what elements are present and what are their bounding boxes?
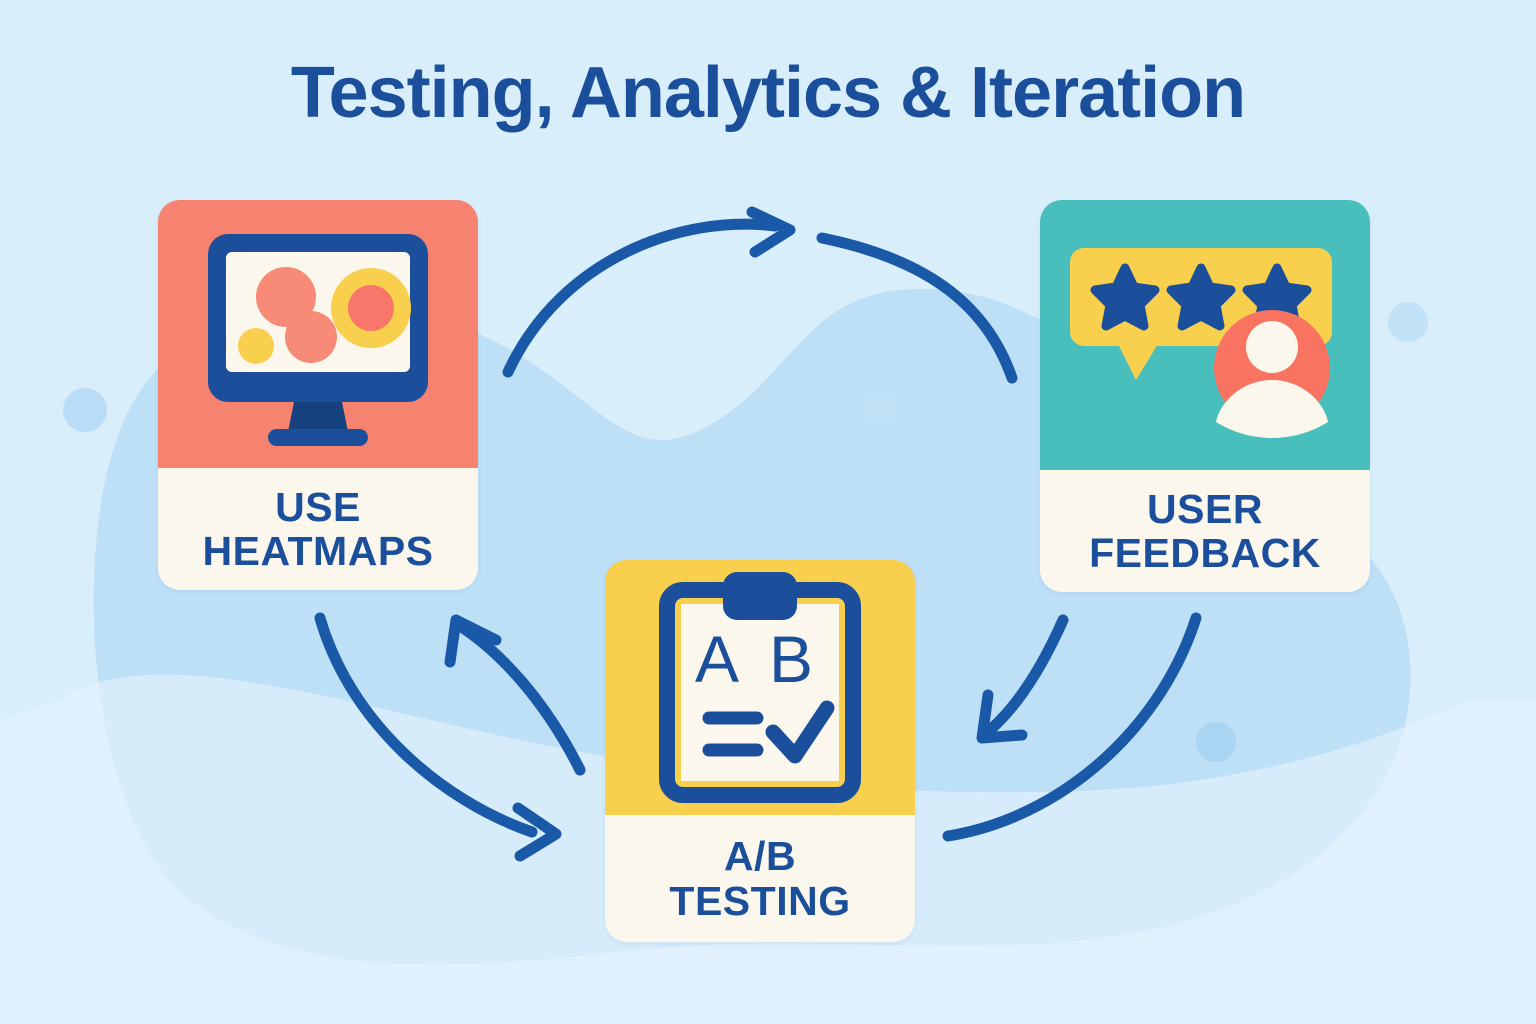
decor-circle-1: [63, 388, 107, 432]
avatar: [1214, 310, 1330, 438]
decor-circle-4: [864, 392, 896, 424]
speech-bubble-tail: [1118, 344, 1158, 380]
card-art-heatmaps: [158, 200, 478, 468]
clipboard-letter-a: A: [695, 622, 739, 696]
clipboard-ab-checklist-icon: A B: [605, 560, 915, 815]
page-title: Testing, Analytics & Iteration: [0, 52, 1536, 134]
card-art-abtest: A B: [605, 560, 915, 815]
card-label-line1: A/B: [724, 834, 796, 878]
card-label-heatmaps: USE HEATMAPS: [158, 468, 478, 590]
card-label-line2: TESTING: [669, 879, 850, 923]
monitor-neck: [288, 402, 348, 432]
heatmap-blob-core: [348, 285, 394, 331]
card-label-line2: FEEDBACK: [1089, 531, 1321, 575]
card-ab-testing[interactable]: A B A/B TESTING: [605, 560, 915, 942]
card-label-line2: HEATMAPS: [202, 529, 433, 573]
heatmap-blob-3: [238, 328, 274, 364]
card-use-heatmaps[interactable]: USE HEATMAPS: [158, 200, 478, 590]
clipboard-letter-b: B: [769, 622, 813, 696]
card-label-feedback: USER FEEDBACK: [1040, 470, 1370, 592]
avatar-head: [1246, 321, 1298, 373]
card-label-line1: USER: [1147, 487, 1263, 531]
monitor-heatmap-icon: [158, 200, 478, 468]
decor-circle-2: [1388, 302, 1428, 342]
heatmap-blob-2: [285, 311, 337, 363]
card-label-abtest: A/B TESTING: [605, 815, 915, 942]
card-art-feedback: [1040, 200, 1370, 470]
card-user-feedback[interactable]: USER FEEDBACK: [1040, 200, 1370, 592]
decor-circle-3: [1196, 722, 1236, 762]
monitor-base: [268, 429, 368, 446]
card-label-line1: USE: [275, 485, 361, 529]
review-stars-avatar-icon: [1040, 200, 1370, 470]
clipboard-clip: [723, 572, 797, 620]
infographic-canvas: Testing, Analytics & Iteration: [0, 0, 1536, 1024]
